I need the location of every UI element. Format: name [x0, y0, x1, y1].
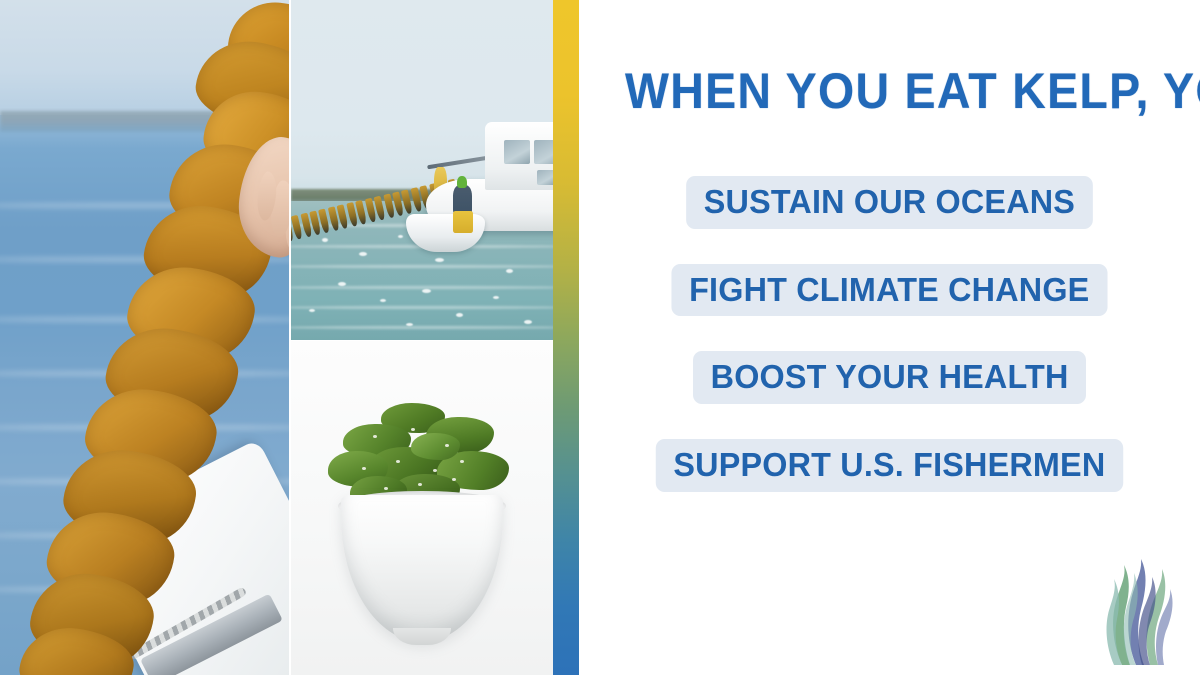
kelp-benefits-slide: WHEN YOU EAT KELP, YOU... SUSTAIN OUR OC… — [0, 0, 1200, 675]
seaweed-salad-bowl-photo — [291, 341, 553, 675]
kelp-frond-photo — [0, 0, 289, 675]
page-title: WHEN YOU EAT KELP, YOU... — [625, 62, 1146, 120]
benefit-pill-fight-climate-change: FIGHT CLIMATE CHANGE — [672, 264, 1108, 317]
kelp-watercolor-logo — [1092, 555, 1188, 667]
bowl — [341, 495, 503, 642]
benefit-pill-sustain-our-oceans: SUSTAIN OUR OCEANS — [686, 176, 1093, 229]
bowl-foot — [393, 628, 451, 645]
content-panel: WHEN YOU EAT KELP, YOU... SUSTAIN OUR OC… — [579, 0, 1200, 675]
benefit-list: SUSTAIN OUR OCEANS FIGHT CLIMATE CHANGE … — [579, 176, 1200, 492]
worker-waders — [453, 211, 473, 233]
kelp-harvest-boat-photo — [291, 0, 553, 340]
worker-cap — [457, 176, 466, 188]
photo-collage — [0, 0, 553, 675]
benefit-pill-support-us-fishermen: SUPPORT U.S. FISHERMEN — [656, 439, 1123, 492]
benefit-pill-boost-your-health: BOOST YOUR HEALTH — [693, 351, 1086, 404]
vertical-gradient-strip — [553, 0, 579, 675]
